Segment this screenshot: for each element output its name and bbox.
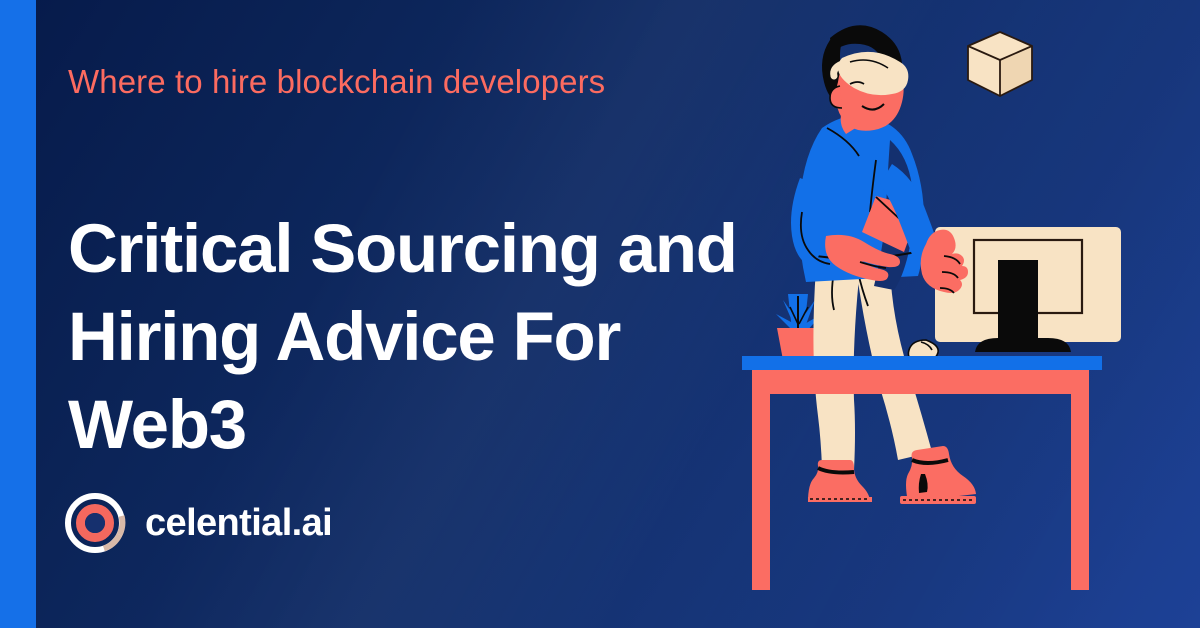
vr-developer-illustration-svg [730,0,1200,628]
blog-hero-banner: Where to hire blockchain developers Crit… [0,0,1200,628]
computer-monitor [935,227,1121,352]
headline-line-1: Critical Sourcing and [68,205,798,293]
floating-3d-cube [968,32,1032,96]
desk-surface [742,356,1102,394]
celential-logo-icon [64,492,126,554]
brand-name-text: celential.ai [145,504,332,542]
hero-illustration [730,0,1200,628]
headline-line-2: Hiring Advice For [68,293,798,381]
kicker-eyebrow-text: Where to hire blockchain developers [68,62,605,102]
page-title: Critical Sourcing and Hiring Advice For … [68,205,798,469]
left-accent-stripe [0,0,36,628]
headline-line-3: Web3 [68,381,798,469]
brand-logo[interactable]: celential.ai [64,492,332,554]
head-with-vr-headset [822,25,908,134]
